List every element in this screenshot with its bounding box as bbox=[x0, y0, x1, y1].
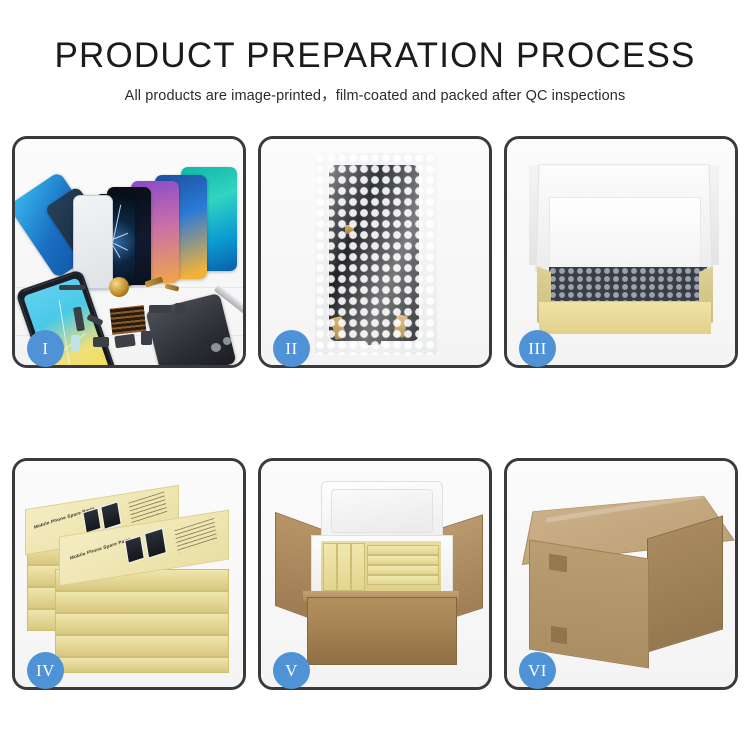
page-subtitle: All products are image-printed，film-coat… bbox=[0, 84, 750, 105]
panel-badge-4: IV bbox=[27, 652, 64, 689]
process-panel-6: VI bbox=[504, 458, 738, 690]
carton-tape-upper bbox=[549, 554, 567, 573]
panel-badge-3: III bbox=[519, 330, 556, 367]
panel-badge-5: V bbox=[273, 652, 310, 689]
process-panel-3: III bbox=[504, 136, 738, 368]
box-front-wall bbox=[539, 301, 711, 334]
speaker-module-icon bbox=[109, 277, 129, 297]
panel-badge-2: II bbox=[273, 330, 310, 367]
process-panel-grid: I II bbox=[12, 136, 738, 690]
phone-internal-board-icon bbox=[145, 293, 236, 365]
box-label-text-front: Mobile Phone Spare Parts bbox=[70, 537, 132, 561]
process-panel-1: I bbox=[12, 136, 246, 368]
carton-front-face bbox=[529, 539, 649, 668]
foam-sheet-icon bbox=[549, 197, 701, 273]
process-panel-5: V bbox=[258, 458, 492, 690]
panel-badge-6: VI bbox=[519, 652, 556, 689]
process-panel-2: II bbox=[258, 136, 492, 368]
ic-chip-array-icon bbox=[110, 305, 147, 334]
product-preparation-process-page: PRODUCT PREPARATION PROCESS All products… bbox=[0, 0, 750, 750]
carton-body bbox=[307, 597, 457, 665]
carton-side-face bbox=[647, 515, 723, 652]
header: PRODUCT PREPARATION PROCESS All products… bbox=[0, 38, 750, 105]
page-title: PRODUCT PREPARATION PROCESS bbox=[0, 38, 750, 75]
process-panel-4: Mobile Phone Spare Parts Mobile Phone Sp… bbox=[12, 458, 246, 690]
bag-sheen bbox=[315, 153, 437, 355]
bubble-wrap-layer bbox=[549, 267, 707, 303]
carton-tape-lower bbox=[551, 626, 567, 645]
panel-badge-1: I bbox=[27, 330, 64, 367]
